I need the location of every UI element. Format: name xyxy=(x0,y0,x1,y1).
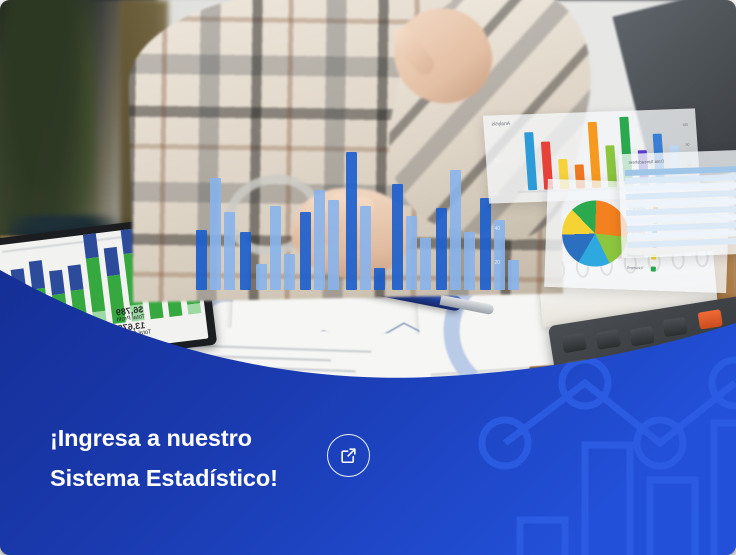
external-link-icon xyxy=(339,446,358,465)
external-link-button[interactable] xyxy=(327,434,370,477)
blue-cta-panel xyxy=(0,265,736,555)
page-title: ¡Ingresa a nuestro Sistema Estadístico! xyxy=(50,418,310,498)
statistics-system-banner: $6,789 Total Profit 13,678 Total Orders xyxy=(0,0,736,555)
data-table-panel: Data Spreadsheet xyxy=(618,150,736,258)
headline-line-1: ¡Ingresa a nuestro xyxy=(50,418,310,458)
headline-line-2: Sistema Estadístico! xyxy=(50,458,310,498)
blue-curve-shape xyxy=(0,265,736,555)
pie-chart-icon xyxy=(561,199,629,267)
